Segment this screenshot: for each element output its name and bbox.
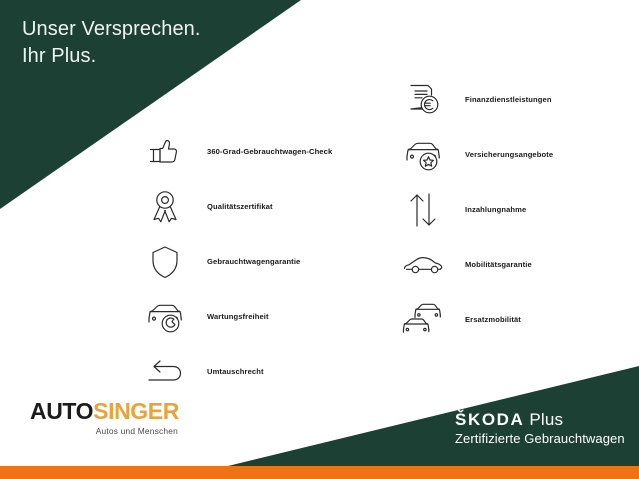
page-title: Unser Versprechen. Ihr Plus. [22,16,322,70]
skoda-brand-line: ŠKODA Plus [455,410,625,430]
dealer-word-auto: AUTO [30,398,93,424]
feature-label: Umtauschrecht [207,367,264,377]
skoda-subtitle: Zertifizierte Gebrauchtwagen [455,431,625,447]
skoda-brand-name: ŠKODA [455,410,524,429]
up-down-arrows-icon [398,186,448,234]
feature-item-mobility: Mobilitätsgarantie [398,237,633,292]
feature-item-insurance: Versicherungsangebote [398,127,633,182]
feature-list-right: Finanzdienstleistungen Versicherungsange… [398,72,633,347]
skoda-plus-logo: ŠKODA Plus Zertifizierte Gebrauchtwagen [455,410,625,447]
car-wrench-icon [140,293,190,341]
feature-label: Gebrauchtwagengarantie [207,257,300,267]
dealer-word-singer: SINGER [93,398,179,424]
two-cars-icon [398,296,448,344]
feature-item-financing: Finanzdienstleistungen [398,72,633,127]
dealer-logo: AUTOSINGER Autos und Menschen [30,398,220,436]
document-euro-icon [398,76,448,124]
feature-label: Qualitätszertifikat [207,202,273,212]
promo-banner: Unser Versprechen. Ihr Plus. 360-Grad-Ge… [0,0,639,479]
feature-item-quality: Qualitätszertifikat [140,179,390,234]
feature-item-warranty: Gebrauchtwagengarantie [140,234,390,289]
award-rosette-icon [140,183,190,231]
feature-item-return: Umtauschrecht [140,344,390,399]
dealer-wordmark: AUTOSINGER [30,398,220,424]
feature-label: Inzahlungnahme [465,205,526,215]
headline-line-1: Unser Versprechen. [22,16,322,43]
feature-item-maintenance: Wartungsfreiheit [140,289,390,344]
feature-label: Mobilitätsgarantie [465,260,532,270]
orange-bottom-bar [0,466,639,479]
car-star-icon [398,131,448,179]
return-arrow-icon [140,348,190,396]
thumbs-up-icon [140,128,190,176]
feature-list-left: 360-Grad-Gebrauchtwagen-Check Qualitätsz… [140,124,390,399]
shield-icon [140,238,190,286]
feature-item-check: 360-Grad-Gebrauchtwagen-Check [140,124,390,179]
dealer-tagline: Autos und Menschen [30,426,178,436]
skoda-plus-suffix: Plus [524,410,563,429]
feature-label: Versicherungsangebote [465,150,553,160]
headline-line-2: Ihr Plus. [22,43,322,70]
feature-item-tradein: Inzahlungnahme [398,182,633,237]
feature-label: Ersatzmobilität [465,315,521,325]
feature-label: Finanzdienstleistungen [465,95,552,105]
feature-label: 360-Grad-Gebrauchtwagen-Check [207,147,332,157]
feature-label: Wartungsfreiheit [207,312,269,322]
feature-item-replacement: Ersatzmobilität [398,292,633,347]
car-side-icon [398,241,448,289]
